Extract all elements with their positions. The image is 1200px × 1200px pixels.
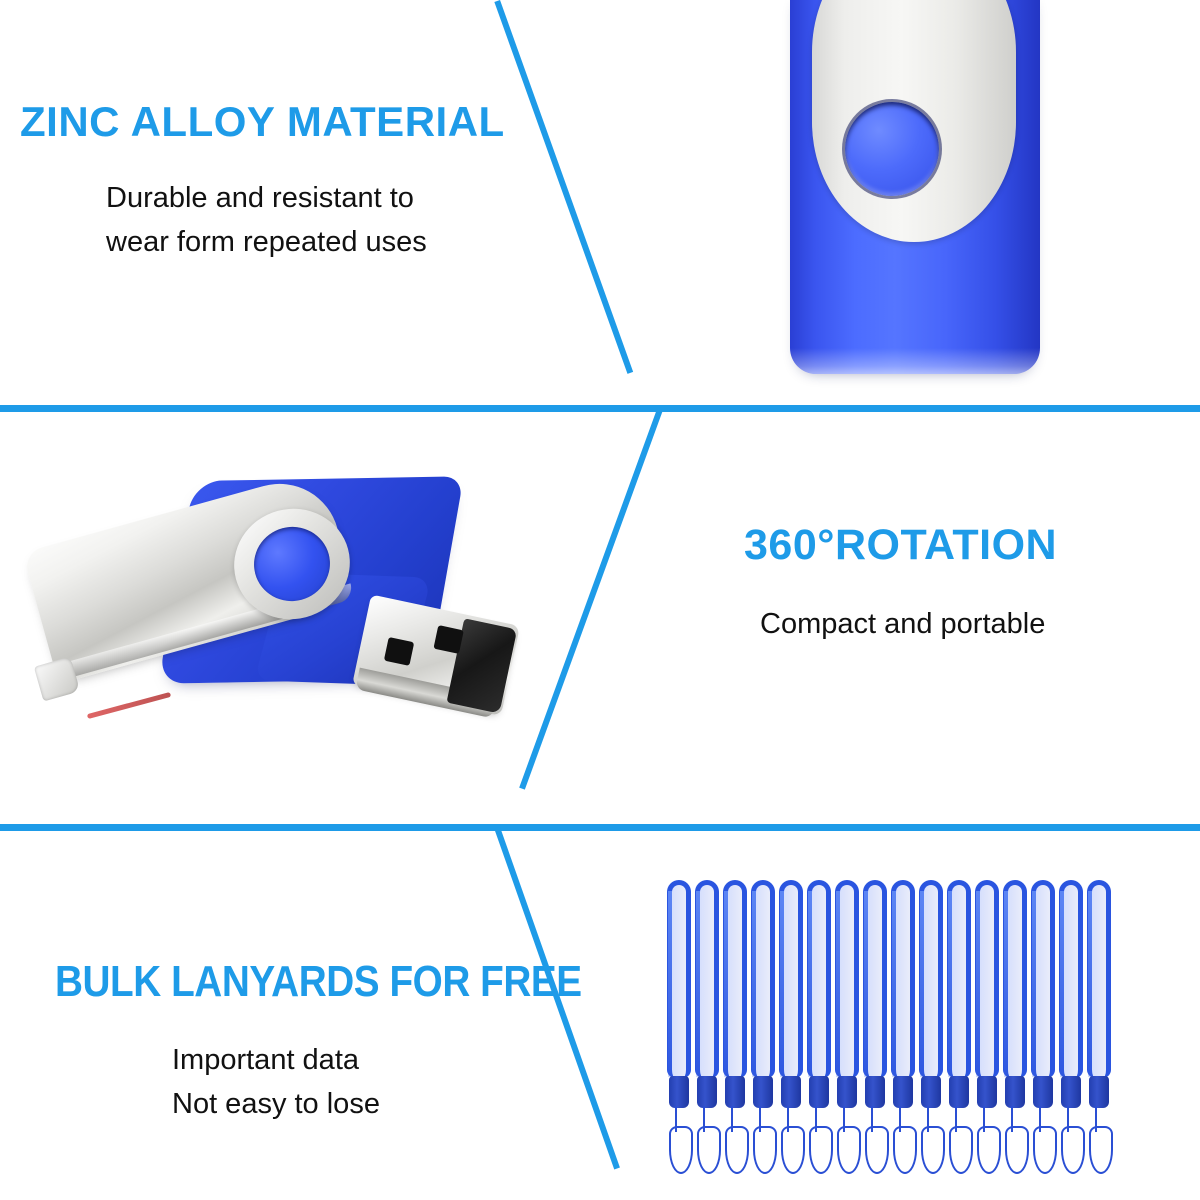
lanyard-strap-loop bbox=[1059, 880, 1083, 1078]
lanyard-attachment-loop bbox=[949, 1126, 973, 1174]
lanyard-item bbox=[1002, 880, 1028, 1170]
subtitle-line: wear form repeated uses bbox=[106, 220, 427, 264]
lanyard-attachment-loop bbox=[1033, 1126, 1057, 1174]
lanyard-crimp-sleeve bbox=[753, 1076, 773, 1108]
usb-connector-notch bbox=[433, 625, 463, 654]
lanyard-attachment-loop bbox=[809, 1126, 833, 1174]
lanyard-crimp-sleeve bbox=[1033, 1076, 1053, 1108]
lanyard-strap-loop bbox=[667, 880, 691, 1078]
lanyard-strap-loop bbox=[751, 880, 775, 1078]
lanyards-image bbox=[666, 880, 1116, 1170]
lanyard-strap-loop bbox=[863, 880, 887, 1078]
lanyard-attachment-loop bbox=[1061, 1126, 1085, 1174]
headline-rotation: 360°ROTATION bbox=[744, 521, 1057, 570]
usb-connector-notch bbox=[384, 637, 414, 666]
lanyard-crimp-sleeve bbox=[697, 1076, 717, 1108]
divider-diagonal-middle bbox=[519, 408, 663, 790]
usb-flash-drive-image bbox=[30, 465, 520, 765]
lanyard-item bbox=[666, 880, 692, 1170]
lanyard-crimp-sleeve bbox=[1089, 1076, 1109, 1108]
lanyard-strap-loop bbox=[891, 880, 915, 1078]
subtitle-line: Compact and portable bbox=[760, 602, 1045, 646]
subtitle-lanyards: Important data Not easy to lose bbox=[172, 1038, 380, 1126]
lanyard-crimp-sleeve bbox=[669, 1076, 689, 1108]
lanyard-attachment-loop bbox=[921, 1126, 945, 1174]
subtitle-zinc-alloy: Durable and resistant to wear form repea… bbox=[106, 176, 427, 264]
usb-red-accent bbox=[87, 692, 171, 719]
lanyard-item bbox=[694, 880, 720, 1170]
lanyard-crimp-sleeve bbox=[781, 1076, 801, 1108]
lanyard-crimp-sleeve bbox=[809, 1076, 829, 1108]
usb-swivel-cap-closeup-image bbox=[790, 0, 1040, 374]
lanyard-attachment-loop bbox=[1089, 1126, 1113, 1174]
divider-diagonal-top bbox=[494, 0, 633, 374]
lanyard-strap-loop bbox=[779, 880, 803, 1078]
lanyard-strap-loop bbox=[975, 880, 999, 1078]
lanyard-strap-loop bbox=[947, 880, 971, 1078]
lanyard-strap-loop bbox=[919, 880, 943, 1078]
lanyard-attachment-loop bbox=[865, 1126, 889, 1174]
lanyard-crimp-sleeve bbox=[949, 1076, 969, 1108]
lanyard-attachment-loop bbox=[669, 1126, 693, 1174]
lanyard-crimp-sleeve bbox=[1005, 1076, 1025, 1108]
lanyard-attachment-loop bbox=[837, 1126, 861, 1174]
lanyard-attachment-loop bbox=[1005, 1126, 1029, 1174]
lanyard-crimp-sleeve bbox=[1061, 1076, 1081, 1108]
lanyard-item bbox=[1030, 880, 1056, 1170]
lanyard-item bbox=[974, 880, 1000, 1170]
lanyard-crimp-sleeve bbox=[837, 1076, 857, 1108]
divider-line-bottom bbox=[0, 824, 1200, 831]
lanyard-item bbox=[890, 880, 916, 1170]
lanyard-crimp-sleeve bbox=[893, 1076, 913, 1108]
lanyard-item bbox=[722, 880, 748, 1170]
lanyard-strap-loop bbox=[723, 880, 747, 1078]
infographic-canvas: ZINC ALLOY MATERIAL Durable and resistan… bbox=[0, 0, 1200, 1200]
lanyard-item bbox=[750, 880, 776, 1170]
subtitle-line: Important data bbox=[172, 1038, 380, 1082]
lanyard-strap-loop bbox=[1003, 880, 1027, 1078]
lanyard-attachment-loop bbox=[753, 1126, 777, 1174]
lanyard-crimp-sleeve bbox=[921, 1076, 941, 1108]
lanyard-item bbox=[1086, 880, 1112, 1170]
lanyard-strap-loop bbox=[807, 880, 831, 1078]
lanyard-crimp-sleeve bbox=[725, 1076, 745, 1108]
lanyard-crimp-sleeve bbox=[865, 1076, 885, 1108]
lanyard-strap-loop bbox=[835, 880, 859, 1078]
lanyard-crimp-sleeve bbox=[977, 1076, 997, 1108]
lanyard-strap-loop bbox=[1031, 880, 1055, 1078]
subtitle-line: Not easy to lose bbox=[172, 1082, 380, 1126]
lanyard-strap-loop bbox=[695, 880, 719, 1078]
headline-bulk-lanyards: BULK LANYARDS FOR FREE bbox=[55, 957, 582, 1007]
lanyard-attachment-loop bbox=[893, 1126, 917, 1174]
lanyard-item bbox=[1058, 880, 1084, 1170]
lanyard-item bbox=[834, 880, 860, 1170]
lanyard-item bbox=[946, 880, 972, 1170]
lanyard-attachment-loop bbox=[781, 1126, 805, 1174]
lanyard-attachment-loop bbox=[977, 1126, 1001, 1174]
lanyard-attachment-loop bbox=[725, 1126, 749, 1174]
lanyard-strap-loop bbox=[1087, 880, 1111, 1078]
subtitle-line: Durable and resistant to bbox=[106, 176, 427, 220]
usb-a-connector bbox=[348, 594, 520, 735]
usb-swivel-pivot-hole bbox=[845, 102, 939, 196]
subtitle-rotation: Compact and portable bbox=[760, 602, 1045, 646]
lanyard-item bbox=[778, 880, 804, 1170]
lanyard-item bbox=[806, 880, 832, 1170]
divider-line-top bbox=[0, 405, 1200, 412]
lanyard-item bbox=[862, 880, 888, 1170]
headline-zinc-alloy: ZINC ALLOY MATERIAL bbox=[20, 98, 505, 146]
lanyard-item bbox=[918, 880, 944, 1170]
lanyard-attachment-loop bbox=[697, 1126, 721, 1174]
